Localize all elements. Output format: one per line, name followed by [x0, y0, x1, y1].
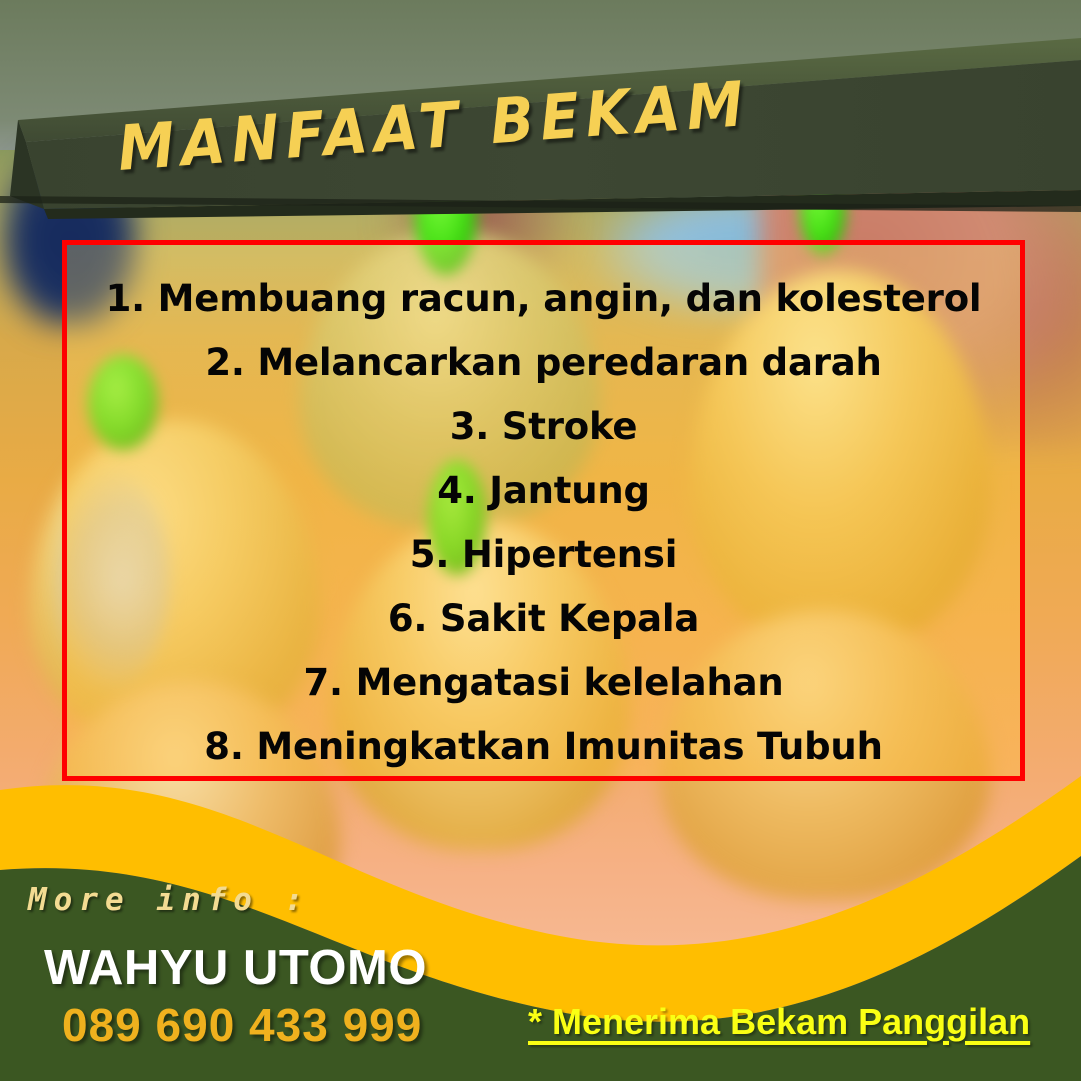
- list-item: 7. Mengatasi kelelahan: [81, 651, 1006, 715]
- banner-shape: [0, 0, 1081, 260]
- list-item: 3. Stroke: [81, 395, 1006, 459]
- benefits-box: 1. Membuang racun, angin, dan kolesterol…: [62, 240, 1025, 781]
- footer-contact: More info : WAHYU UTOMO 089 690 433 999 …: [0, 860, 1081, 1081]
- phone-number[interactable]: 089 690 433 999: [62, 998, 422, 1052]
- title-banner: MANFAAT BEKAM: [0, 0, 1081, 260]
- list-item: 6. Sakit Kepala: [81, 587, 1006, 651]
- service-note: * Menerima Bekam Panggilan: [528, 1001, 1030, 1043]
- more-info-label: More info :: [28, 882, 310, 918]
- list-item: 2. Melancarkan peredaran darah: [81, 331, 1006, 395]
- benefits-list: 1. Membuang racun, angin, dan kolesterol…: [67, 245, 1020, 781]
- list-item: 4. Jantung: [81, 459, 1006, 523]
- list-item: 1. Membuang racun, angin, dan kolesterol: [81, 267, 1006, 331]
- poster-canvas: MANFAAT BEKAM 1. Membuang racun, angin, …: [0, 0, 1081, 1081]
- list-item: 5. Hipertensi: [81, 523, 1006, 587]
- contact-name: WAHYU UTOMO: [44, 940, 427, 996]
